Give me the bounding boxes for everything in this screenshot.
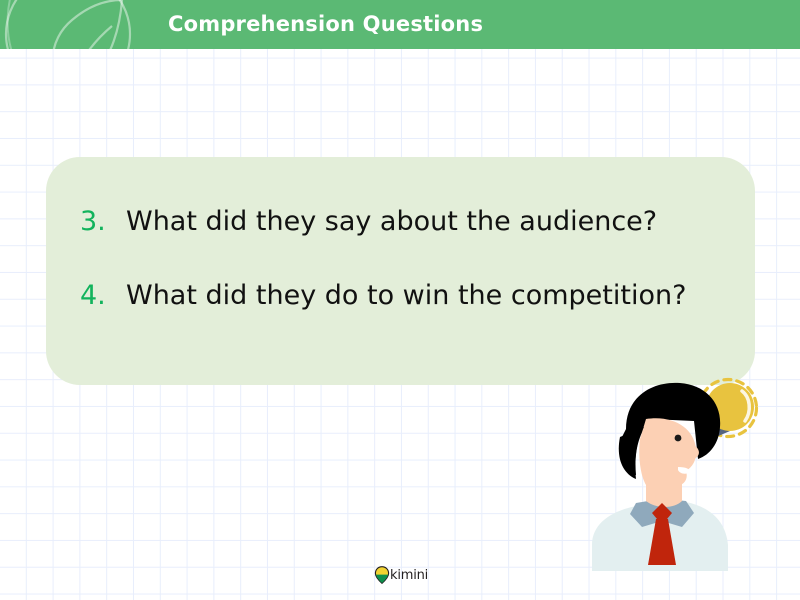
question-item: 3. What did they say about the audience? [80, 206, 657, 237]
head-shape [619, 383, 720, 485]
question-item: 4. What did they do to win the competiti… [80, 280, 686, 311]
man-with-idea-lightbulb-illustration [590, 375, 800, 571]
kimini-footer-logo: kimini [374, 564, 428, 586]
question-text: What did they say about the audience? [126, 206, 657, 237]
kimini-logo-text: kimini [390, 568, 428, 583]
slide-canvas: Comprehension Questions 3. What did they… [0, 0, 800, 600]
page-title: Comprehension Questions [168, 0, 483, 49]
kimini-balloon-logo-icon [374, 566, 390, 584]
question-card: 3. What did they say about the audience?… [46, 157, 755, 385]
question-text: What did they do to win the competition? [126, 280, 686, 311]
question-number: 3. [80, 206, 126, 237]
header-bar: Comprehension Questions [0, 0, 800, 49]
body-shape [592, 479, 728, 571]
question-number: 4. [80, 280, 126, 311]
kimini-leaf-watermark-icon [0, 0, 148, 49]
